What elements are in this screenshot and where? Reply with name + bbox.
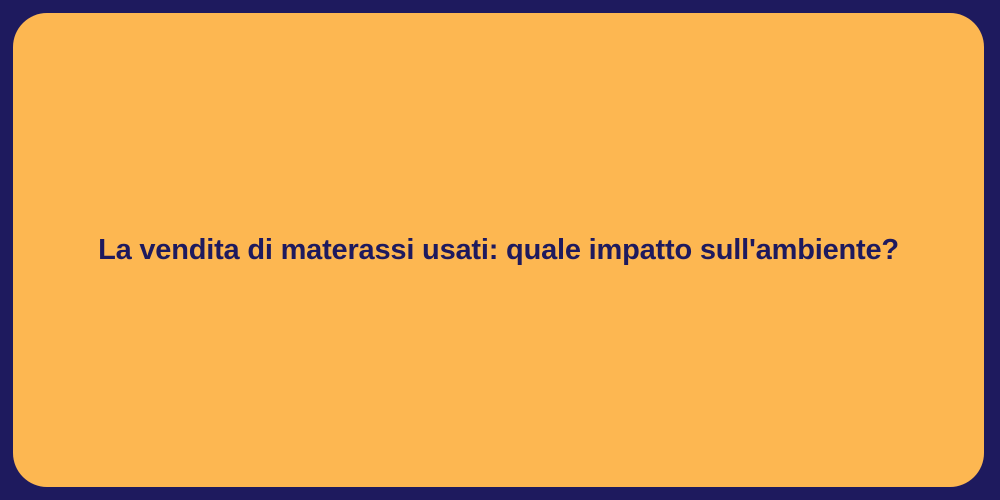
banner-frame: La vendita di materassi usati: quale imp… bbox=[0, 0, 1000, 500]
page-title: La vendita di materassi usati: quale imp… bbox=[98, 232, 899, 268]
banner-panel: La vendita di materassi usati: quale imp… bbox=[13, 13, 984, 487]
